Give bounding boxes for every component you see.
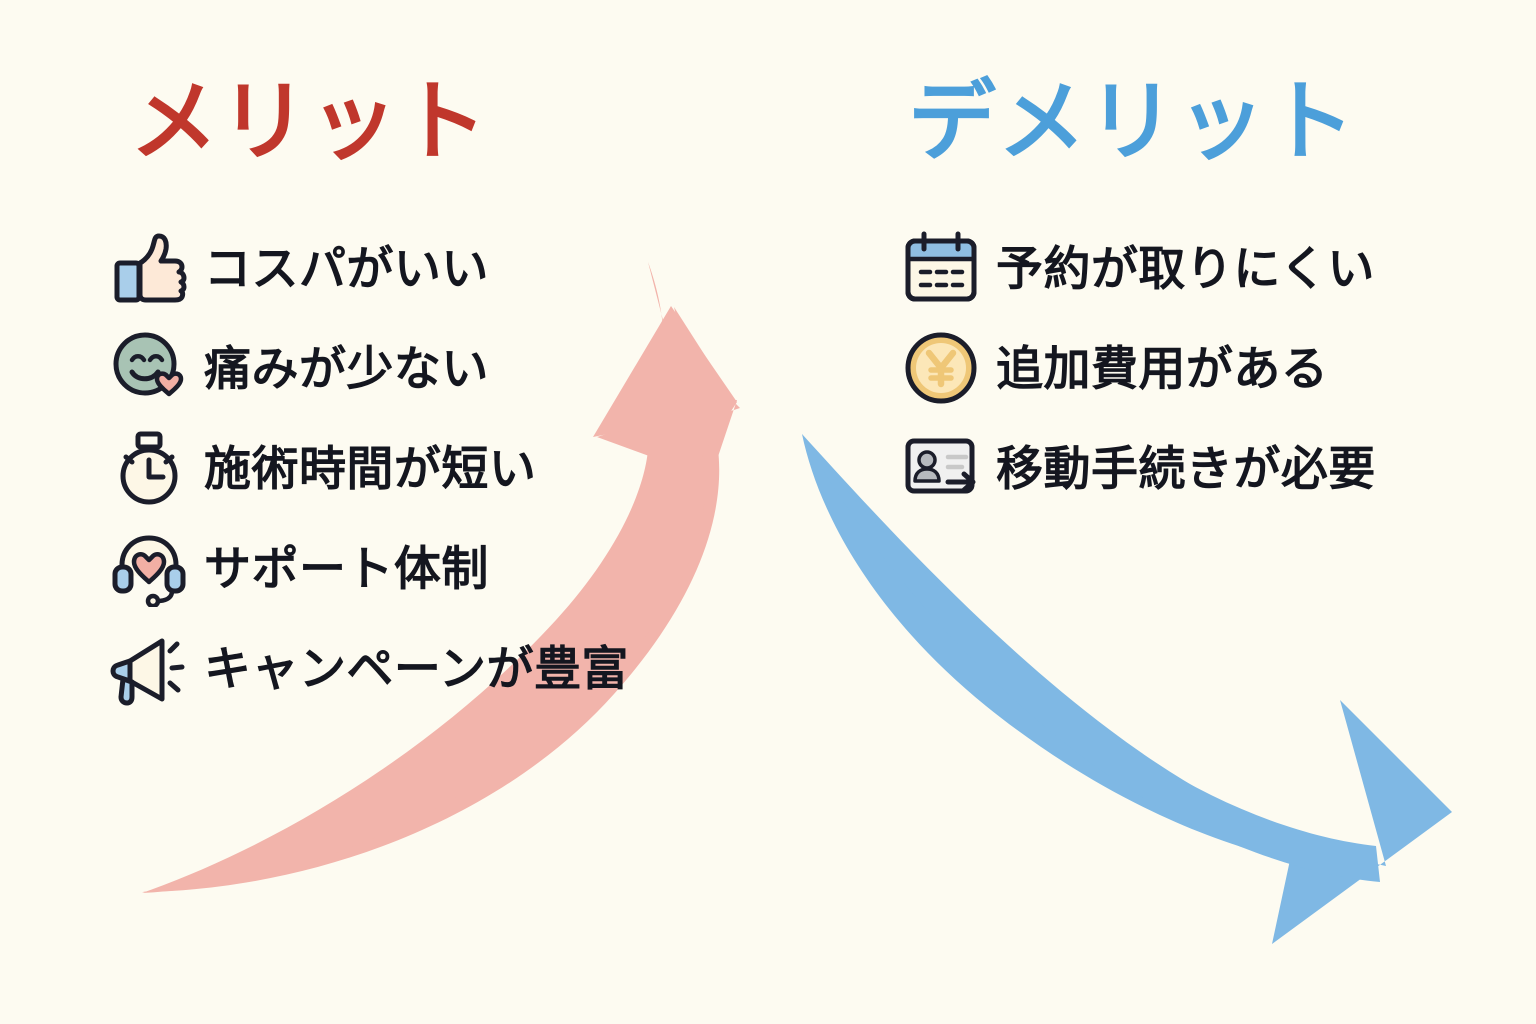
id-card-transfer-icon [900, 427, 982, 509]
calendar-icon [900, 227, 982, 309]
merit-item-pain: 痛みが少ない [108, 318, 808, 418]
stopwatch-icon [108, 427, 190, 509]
merit-title: メリット [108, 78, 808, 166]
smiling-face-with-heart-icon [108, 327, 190, 409]
merit-item-label: サポート体制 [204, 545, 489, 592]
demerit-item-reservation: 予約が取りにくい [900, 218, 1520, 318]
thumbs-up-icon [108, 227, 190, 309]
merit-item-label: コスパがいい [204, 245, 489, 292]
merit-item-label: 施術時間が短い [204, 445, 536, 492]
demerit-item-label: 予約が取りにくい [996, 245, 1375, 292]
demerit-item-label: 移動手続きが必要 [996, 445, 1376, 492]
merit-column: メリット コスパがいい [108, 78, 808, 718]
merit-item-cost: コスパがいい [108, 218, 808, 318]
merit-item-label: 痛みが少ない [204, 345, 489, 392]
merit-item-label: キャンペーンが豊富 [204, 645, 629, 692]
demerit-item-label: 追加費用がある [996, 345, 1328, 392]
merit-item-duration: 施術時間が短い [108, 418, 808, 518]
demerit-item-cost: 追加費用がある [900, 318, 1520, 418]
merit-item-campaign: キャンペーンが豊富 [108, 618, 808, 718]
yen-coin-icon [900, 327, 982, 409]
demerit-title: デメリット [900, 78, 1520, 166]
headset-support-icon [108, 527, 190, 609]
merit-item-support: サポート体制 [108, 518, 808, 618]
demerit-column: デメリット [900, 78, 1520, 518]
demerit-item-transfer: 移動手続きが必要 [900, 418, 1520, 518]
demerit-list: 予約が取りにくい 追加費用がある [900, 218, 1520, 518]
megaphone-icon [108, 627, 190, 709]
merit-list: コスパがいい 痛みが少ない [108, 218, 808, 718]
infographic-canvas: メリット コスパがいい [0, 0, 1536, 1024]
